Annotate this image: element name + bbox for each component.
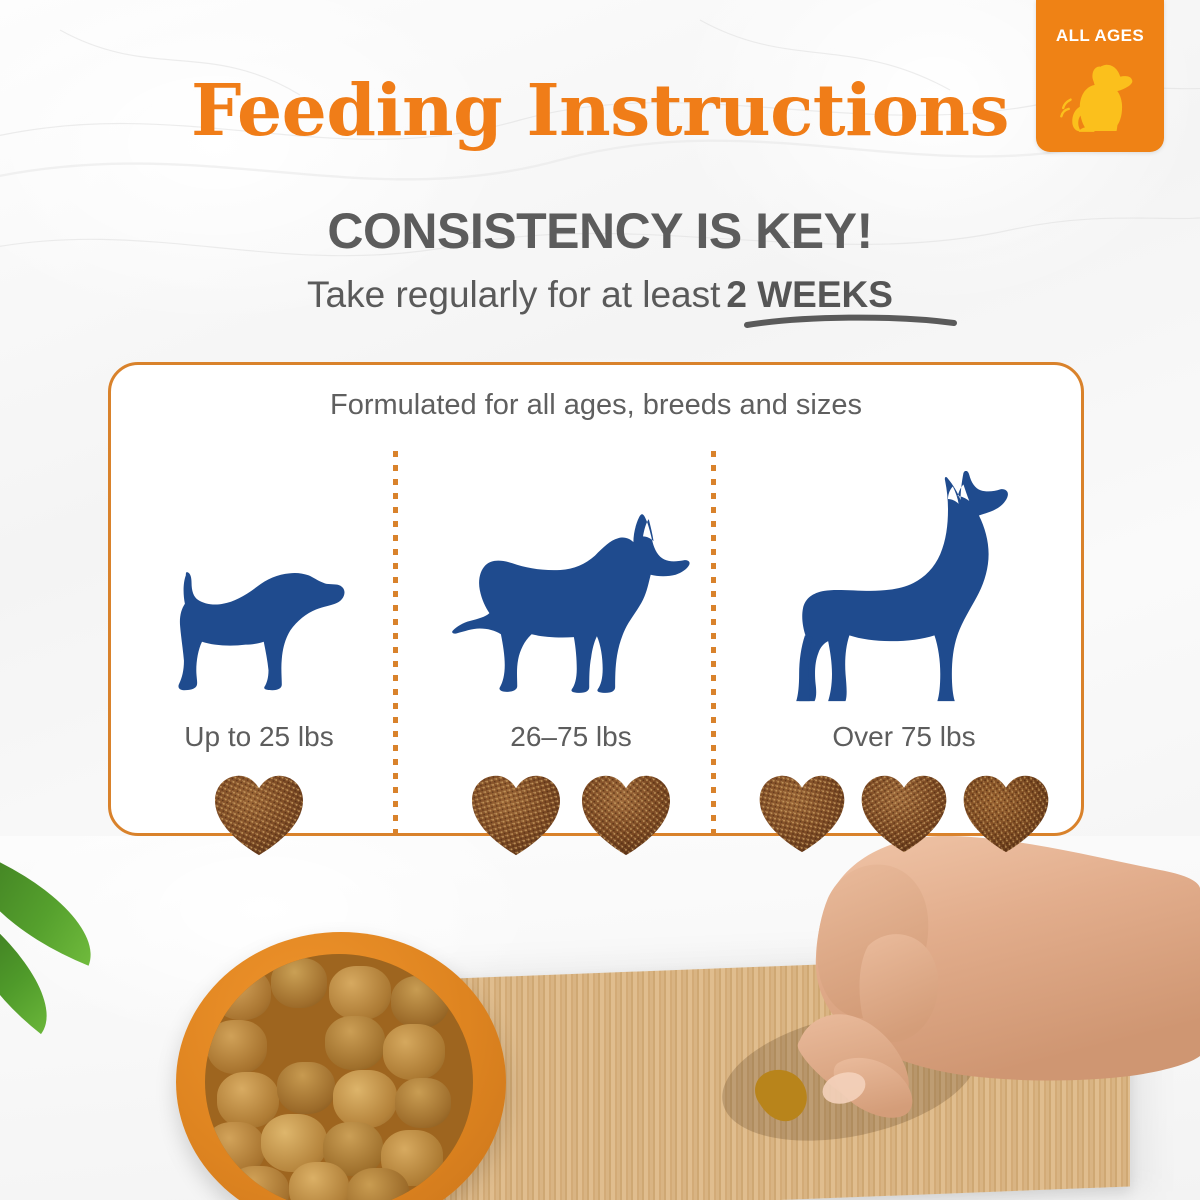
feeding-column-large: Over 75 lbs xyxy=(729,433,1079,833)
subheadline-emphasis: 2 WEEKS xyxy=(726,274,893,315)
headline: CONSISTENCY IS KEY! xyxy=(0,202,1200,260)
large-dog-silhouette-icon xyxy=(729,433,1079,703)
heart-kibble-icon xyxy=(756,771,848,856)
weight-label-medium: 26–75 lbs xyxy=(411,721,731,753)
card-subtitle: Formulated for all ages, breeds and size… xyxy=(111,389,1081,422)
subheadline: Take regularly for at least2 WEEKS xyxy=(0,274,1200,316)
feeding-column-small: Up to 25 lbs xyxy=(119,433,399,833)
feeding-chart-card: Formulated for all ages, breeds and size… xyxy=(108,362,1084,836)
medium-dog-silhouette-icon xyxy=(411,433,731,703)
bowl-kibble-fill xyxy=(205,954,473,1200)
subheadline-prefix: Take regularly for at least xyxy=(307,274,720,315)
all-ages-badge: ALL AGES xyxy=(1036,0,1164,152)
kibble-row-medium xyxy=(411,771,731,859)
heart-kibble-icon xyxy=(578,771,674,859)
all-ages-label: ALL AGES xyxy=(1056,26,1144,46)
kibble-row-large xyxy=(729,771,1079,856)
hand-holding-kibble xyxy=(690,836,1200,1200)
sitting-dog-icon xyxy=(1054,50,1146,147)
emphasis-underline xyxy=(743,312,958,330)
page-title: Feeding Instructions xyxy=(0,68,1200,152)
kibble-row-small xyxy=(119,771,399,859)
column-divider-1 xyxy=(393,451,398,839)
weight-label-small: Up to 25 lbs xyxy=(119,721,399,753)
weight-label-large: Over 75 lbs xyxy=(729,721,1079,753)
heart-kibble-icon xyxy=(468,771,564,859)
heart-kibble-icon xyxy=(211,771,307,859)
heart-kibble-icon xyxy=(960,771,1052,856)
heart-kibble-icon xyxy=(858,771,950,856)
column-divider-2 xyxy=(711,451,716,839)
lifestyle-photo xyxy=(0,836,1200,1200)
feeding-column-medium: 26–75 lbs xyxy=(411,433,731,833)
small-dog-silhouette-icon xyxy=(119,433,399,703)
